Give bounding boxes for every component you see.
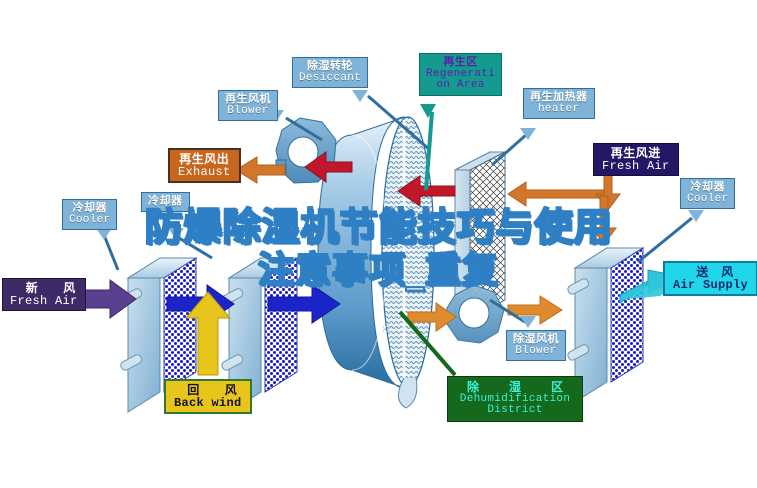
label-regeneration-blower-cn: 再生风机 (225, 94, 271, 106)
label-cooler-right-en: Cooler (687, 194, 728, 206)
label-back-wind-en: Back wind (174, 397, 242, 410)
label-regen-fresh-air-en: Fresh Air (602, 160, 670, 173)
arrow-regen-fresh-air-horizontal (508, 182, 610, 206)
label-fresh-air-in-cn: 新 风 (10, 282, 78, 295)
label-cooler-left-1-cn: 冷却器 (69, 203, 110, 215)
leader-heater (492, 135, 526, 165)
label-dehumidification-blower: 除湿风机 Blower (506, 330, 566, 361)
label-back-wind-cn: 回 风 (174, 384, 242, 397)
label-cooler-left-2-cn: 冷却器 (148, 196, 183, 208)
label-regeneration-heater: 再生加热器 heater (523, 88, 595, 119)
label-air-supply-en: Air Supply (673, 279, 748, 292)
label-regeneration-heater-en: heater (530, 104, 588, 116)
schematic-artwork (0, 0, 757, 488)
label-cooler-left-2: 冷却器 (141, 192, 190, 212)
label-back-wind: 回 风 Back wind (164, 379, 252, 414)
label-dehumid-blower-cn: 除湿风机 (513, 334, 559, 346)
label-regeneration-heater-cn: 再生加热器 (530, 92, 588, 104)
label-dehumid-blower-en: Blower (513, 346, 559, 358)
label-regeneration-area: 再生区 Regenerati on Area (419, 53, 502, 96)
label-fresh-air-in-en: Fresh Air (10, 295, 78, 308)
label-cooler-left-1-en: Cooler (69, 215, 110, 227)
label-air-supply: 送 风 Air Supply (663, 261, 757, 296)
label-regeneration-fresh-air-in: 再生风进 Fresh Air (593, 143, 679, 176)
label-cooler-right-cn: 冷却器 (687, 182, 728, 194)
leader-cooler-left1 (104, 235, 118, 270)
label-desiccant-wheel-en: Desiccant (299, 73, 361, 85)
leader-cooler-right (638, 218, 692, 262)
label-regeneration-area-en2: on Area (426, 80, 495, 92)
label-desiccant-wheel-cn: 除湿转轮 (299, 61, 361, 73)
label-desiccant-wheel: 除湿转轮 Desiccant (292, 57, 368, 88)
arrow-dehumid-2 (508, 296, 562, 324)
desiccant-wheel-graphic (318, 117, 434, 408)
label-regeneration-blower-en: Blower (225, 106, 271, 118)
label-exhaust-cn: 再生风出 (178, 153, 231, 166)
label-cooler-right: 冷却器 Cooler (680, 178, 735, 209)
label-dehumid-district-en2: District (458, 405, 572, 417)
label-air-supply-cn: 送 风 (673, 266, 748, 279)
label-fresh-air-in: 新 风 Fresh Air (2, 278, 86, 311)
label-regen-fresh-air-cn: 再生风进 (602, 147, 670, 160)
label-regeneration-area-cn: 再生区 (426, 57, 495, 69)
leader-cooler-left2 (174, 235, 212, 258)
watermark-text: xt (382, 323, 391, 335)
label-dehumidification-district: 除 湿 区 Dehumidification District (447, 376, 583, 422)
diagram-canvas: xt 除湿转轮 Desiccant 再生风机 Blower 再生区 Regene… (0, 0, 757, 488)
label-exhaust-en: Exhaust (178, 166, 231, 179)
label-regeneration-blower: 再生风机 Blower (218, 90, 278, 121)
label-dehumid-district-cn: 除 湿 区 (458, 381, 572, 394)
label-exhaust: 再生风出 Exhaust (168, 148, 241, 183)
arrow-fresh-air-left (77, 280, 136, 318)
label-cooler-left-1: 冷却器 Cooler (62, 199, 117, 230)
